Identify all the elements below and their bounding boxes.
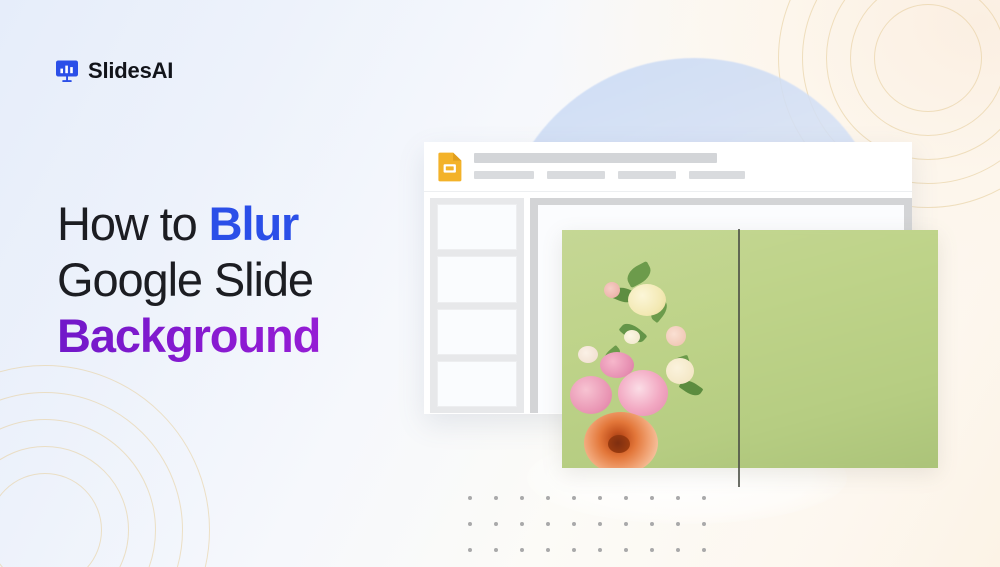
- menu-item-placeholder[interactable]: [474, 171, 534, 179]
- brand-name: SlidesAI: [88, 58, 173, 84]
- slide-thumbnail[interactable]: [437, 361, 517, 407]
- document-title-placeholder: [474, 153, 717, 163]
- comparison-half-original: [562, 230, 750, 468]
- slides-chart-icon: [54, 58, 80, 84]
- headline-line-3: Background: [57, 308, 457, 364]
- menu-item-placeholder[interactable]: [547, 171, 605, 179]
- headline-line-1: How to Blur: [57, 196, 457, 252]
- menu-item-placeholder[interactable]: [689, 171, 745, 179]
- slide-thumbnail[interactable]: [437, 256, 517, 302]
- slide-thumbnail-rail: [430, 198, 524, 413]
- banner-canvas: SlidesAI How to Blur Google Slide Backgr…: [0, 0, 1000, 567]
- blur-comparison-image: [562, 230, 938, 468]
- flower-scene-blurred: [750, 230, 938, 468]
- menu-bar-placeholders: [474, 171, 745, 179]
- header-placeholder-bars: [474, 151, 745, 179]
- app-header: [424, 142, 912, 192]
- headline-highlight-blur: Blur: [209, 197, 299, 250]
- headline-prefix: How to: [57, 197, 209, 250]
- menu-item-placeholder[interactable]: [618, 171, 676, 179]
- flower-scene-sharp: [562, 230, 750, 468]
- headline-line-2: Google Slide: [57, 252, 457, 308]
- decor-arcs-bottom-left: [0, 365, 210, 567]
- comparison-divider-line[interactable]: [738, 229, 740, 487]
- google-slides-icon: [438, 151, 463, 182]
- slide-thumbnail[interactable]: [437, 204, 517, 250]
- slide-thumbnail[interactable]: [437, 309, 517, 355]
- comparison-half-blurred: [750, 230, 938, 468]
- brand-logo[interactable]: SlidesAI: [54, 58, 173, 84]
- page-title: How to Blur Google Slide Background: [57, 196, 457, 364]
